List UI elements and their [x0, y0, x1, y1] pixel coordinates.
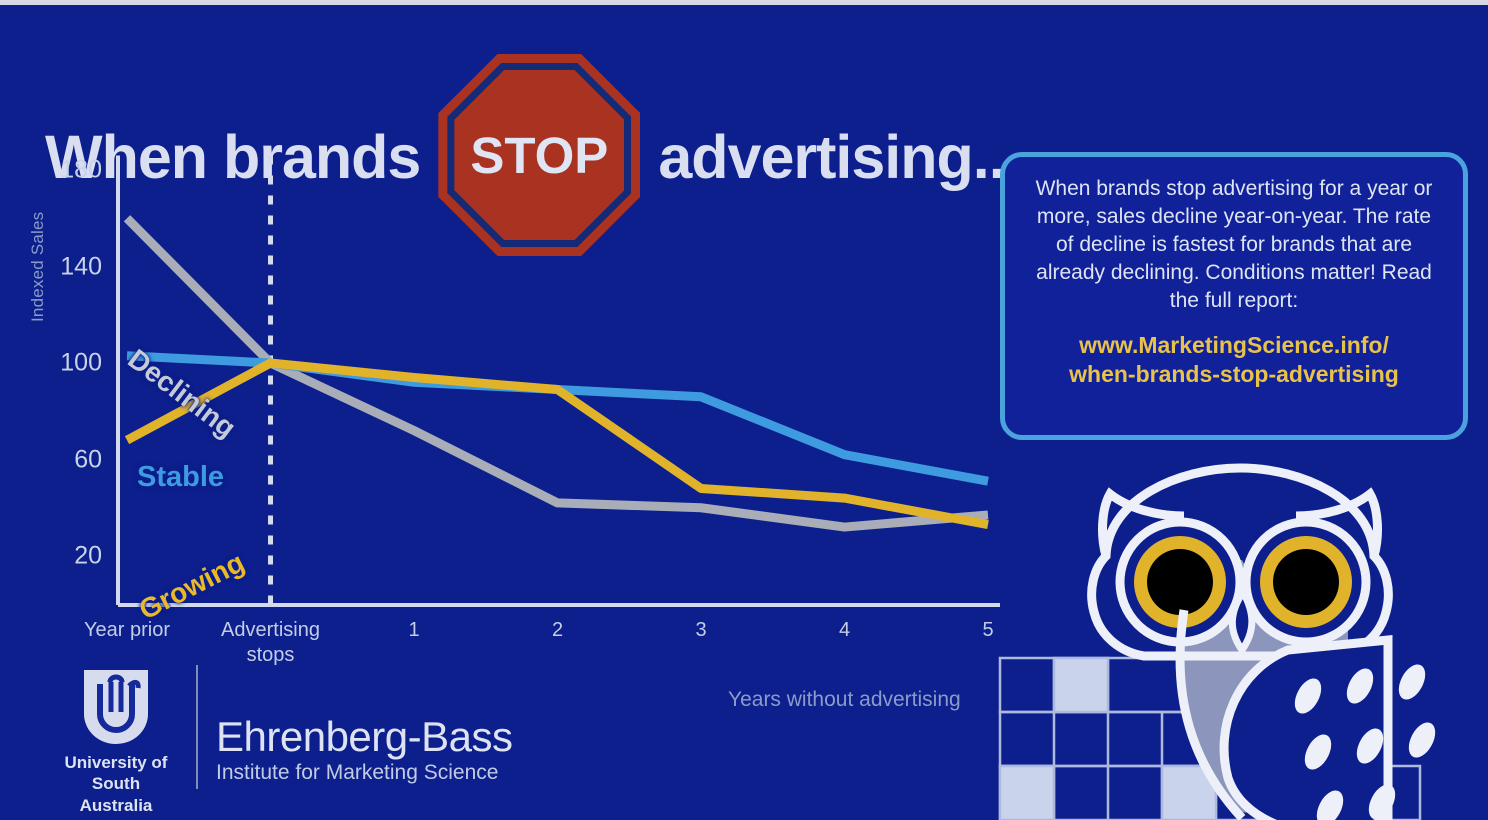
x-axis-title: Years without advertising	[728, 688, 961, 712]
institute-tagline: Institute for Marketing Science	[216, 761, 513, 785]
infographic-canvas: When brands STOP advertising... Indexed …	[0, 0, 1488, 820]
owl-decoration	[988, 460, 1488, 820]
x-tick-label: Advertising stops	[221, 618, 320, 668]
unisa-shield-icon	[82, 668, 150, 746]
logo-divider	[196, 665, 198, 789]
callout-box: When brands stop advertising for a year …	[1000, 152, 1468, 440]
series-label-stable: Stable	[137, 461, 224, 494]
report-link-line2: when-brands-stop-advertising	[1069, 361, 1399, 387]
callout-body-text: When brands stop advertising for a year …	[1031, 175, 1437, 315]
line-chart: Indexed Sales 1801401006020 Year priorAd…	[0, 150, 1010, 610]
institute-logo: Ehrenberg-Bass Institute for Marketing S…	[216, 716, 513, 785]
report-link-line1: www.MarketingScience.info/	[1079, 332, 1389, 358]
university-name: University of South Australia	[62, 752, 170, 816]
x-tick-label: 1	[408, 618, 419, 643]
top-strip	[0, 0, 1488, 5]
report-link[interactable]: www.MarketingScience.info/ when-brands-s…	[1031, 331, 1437, 390]
x-tick-label: 2	[552, 618, 563, 643]
university-logo: University of South Australia	[62, 668, 170, 816]
x-tick-label: 3	[695, 618, 706, 643]
x-tick-label: 4	[839, 618, 850, 643]
institute-name: Ehrenberg-Bass	[216, 716, 513, 758]
stop-sign-label: STOP	[470, 126, 608, 185]
